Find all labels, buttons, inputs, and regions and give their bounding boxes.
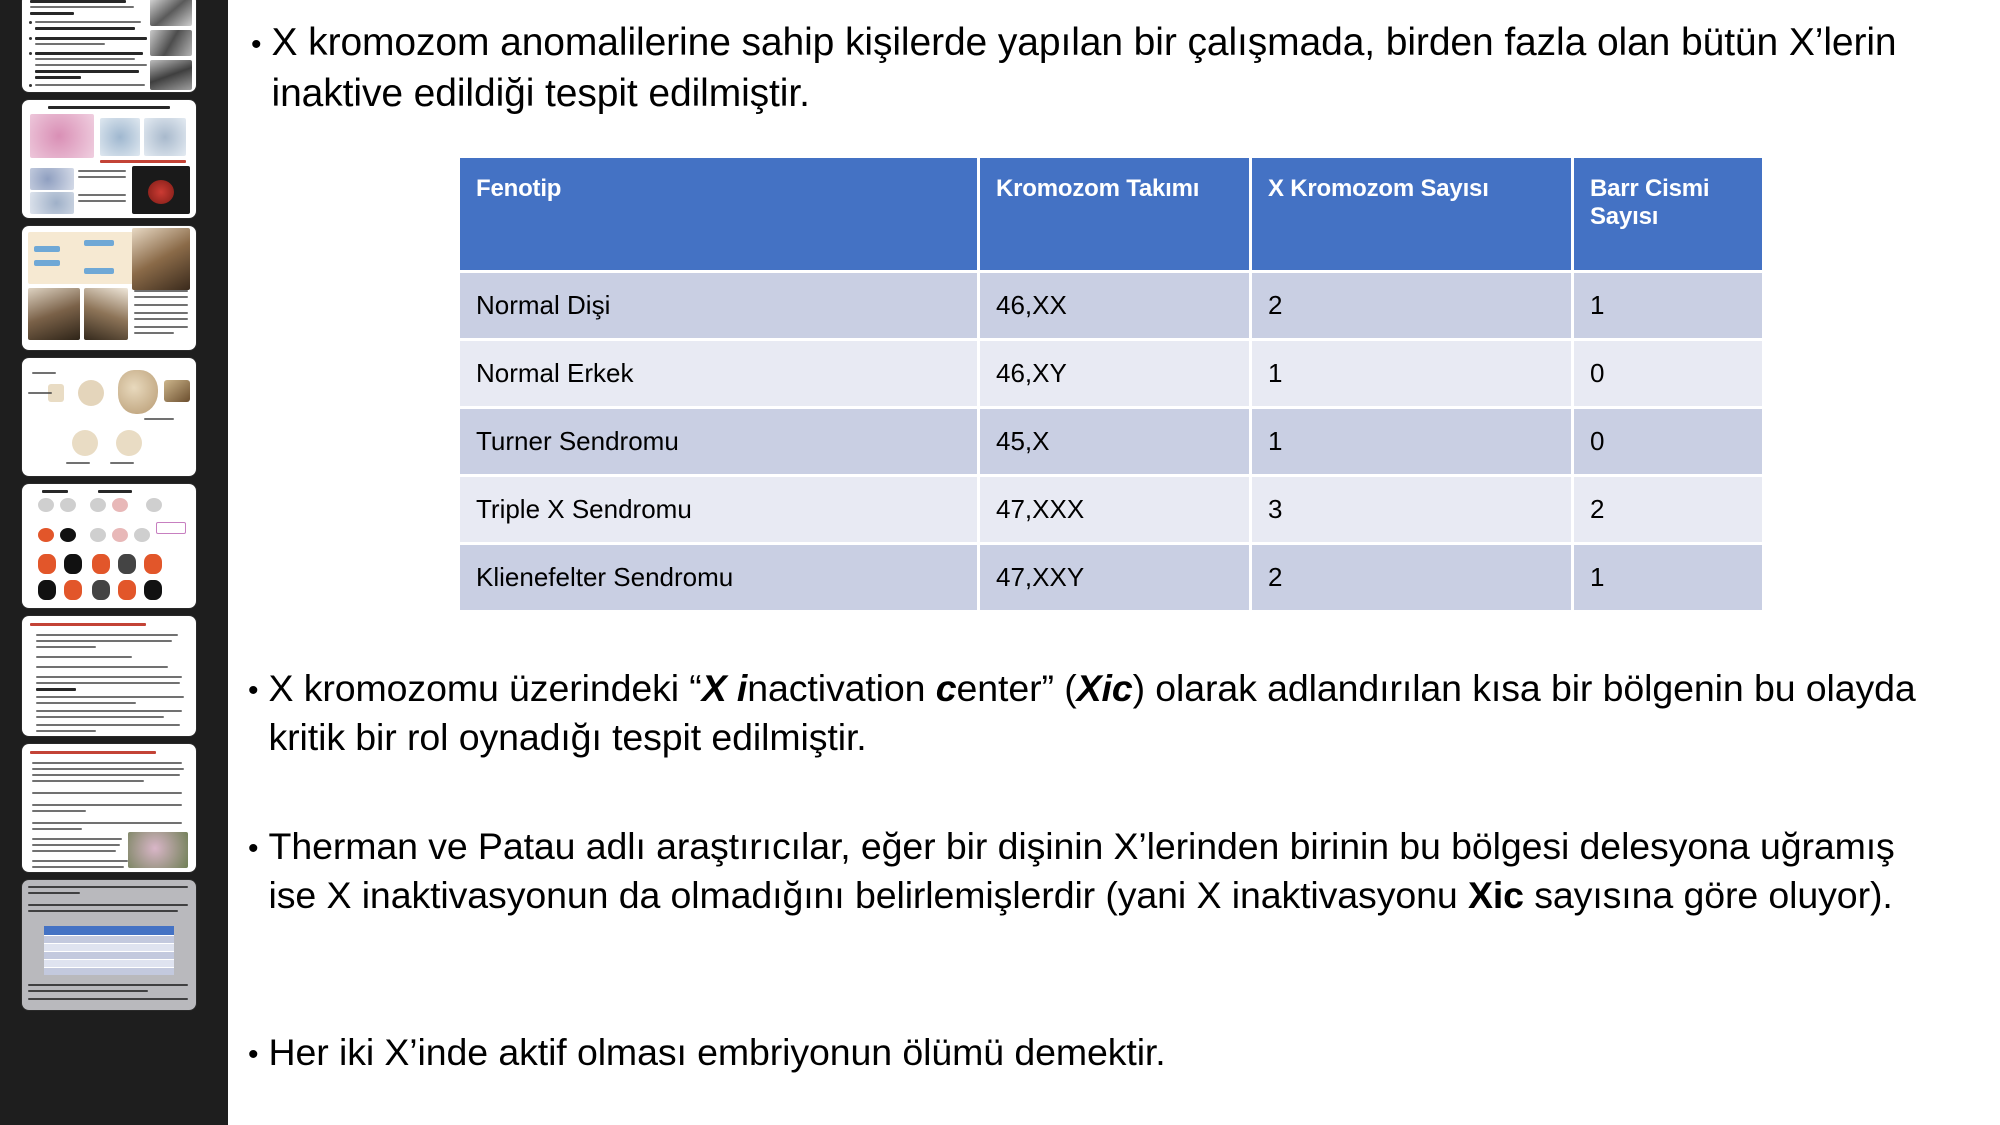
column-header-fenotip: Fenotip [460,158,980,270]
thumbnail-mini-table [44,926,174,975]
slide-thumbnail-2[interactable] [22,100,196,218]
thumbnail-content [22,100,196,218]
column-header-kromozom-takimi: Kromozom Takımı [980,158,1252,270]
column-header-barr-cismi-sayisi: Barr Cismi Sayısı [1574,158,1762,270]
bullet-marker: • [251,18,272,60]
slide-thumbnail-4[interactable] [22,358,196,476]
table-row: Normal Dişi 46,XX 2 1 [460,270,1762,338]
bullet-4: • Her iki X’inde aktif olması embriyonun… [248,1028,1948,1077]
thumbnail-content [22,358,196,476]
cell-phenotype: Triple X Sendromu [460,474,980,542]
slide-canvas: • X kromozom anomalilerine sahip kişiler… [228,0,2000,1125]
bullet-marker: • [248,822,269,864]
cell-karyotype: 45,X [980,406,1252,474]
cell-x-count: 1 [1252,338,1574,406]
cell-barr-count: 1 [1574,270,1762,338]
table-header-row: Fenotip Kromozom Takımı X Kromozom Sayıs… [460,158,1762,270]
cell-x-count: 1 [1252,406,1574,474]
cell-karyotype: 47,XXY [980,542,1252,610]
column-header-x-kromozom-sayisi: X Kromozom Sayısı [1252,158,1574,270]
thumbnail-content [22,484,196,608]
cell-x-count: 2 [1252,270,1574,338]
table-row: Turner Sendromu 45,X 1 0 [460,406,1762,474]
cell-phenotype: Klienefelter Sendromu [460,542,980,610]
cell-x-count: 3 [1252,474,1574,542]
barr-body-table: Fenotip Kromozom Takımı X Kromozom Sayıs… [460,158,1762,610]
cell-karyotype: 46,XX [980,270,1252,338]
cell-x-count: 2 [1252,542,1574,610]
cell-phenotype: Normal Erkek [460,338,980,406]
slide-thumbnail-sidebar[interactable] [0,0,228,1125]
bullet-1: • X kromozom anomalilerine sahip kişiler… [251,18,1981,119]
bullet-marker: • [248,664,269,706]
table-body: Normal Dişi 46,XX 2 1 Normal Erkek 46,XY… [460,270,1762,610]
slide-thumbnail-8-current[interactable] [22,880,196,1010]
cell-barr-count: 2 [1574,474,1762,542]
cell-karyotype: 47,XXX [980,474,1252,542]
bullet-1-text: X kromozom anomalilerine sahip kişilerde… [272,18,1981,119]
cell-barr-count: 0 [1574,406,1762,474]
thumbnail-content [22,0,196,92]
table-row: Triple X Sendromu 47,XXX 3 2 [460,474,1762,542]
slide-thumbnail-1[interactable] [22,0,196,92]
cell-karyotype: 46,XY [980,338,1252,406]
bullet-2: • X kromozomu üzerindeki “X inactivation… [248,664,1948,762]
thumbnail-content [22,226,196,350]
cell-phenotype: Normal Dişi [460,270,980,338]
table-row: Normal Erkek 46,XY 1 0 [460,338,1762,406]
bullet-4-text: Her iki X’inde aktif olması embriyonun ö… [269,1028,1166,1077]
cell-barr-count: 0 [1574,338,1762,406]
table-row: Klienefelter Sendromu 47,XXY 2 1 [460,542,1762,610]
bullet-3: • Therman ve Patau adlı araştırıcılar, e… [248,822,1948,920]
thumbnail-content [22,880,196,1010]
cell-barr-count: 1 [1574,542,1762,610]
table-header: Fenotip Kromozom Takımı X Kromozom Sayıs… [460,158,1762,270]
slide-thumbnail-3[interactable] [22,226,196,350]
bullet-3-text: Therman ve Patau adlı araştırıcılar, eğe… [269,822,1948,920]
bullet-2-text: X kromozomu üzerindeki “X inactivation c… [269,664,1948,762]
slide-thumbnail-6[interactable] [22,616,196,736]
slide-thumbnail-5[interactable] [22,484,196,608]
cell-phenotype: Turner Sendromu [460,406,980,474]
bullet-marker: • [248,1028,269,1070]
thumbnail-content [22,744,196,872]
slide-thumbnail-7[interactable] [22,744,196,872]
thumbnail-content [22,616,196,736]
